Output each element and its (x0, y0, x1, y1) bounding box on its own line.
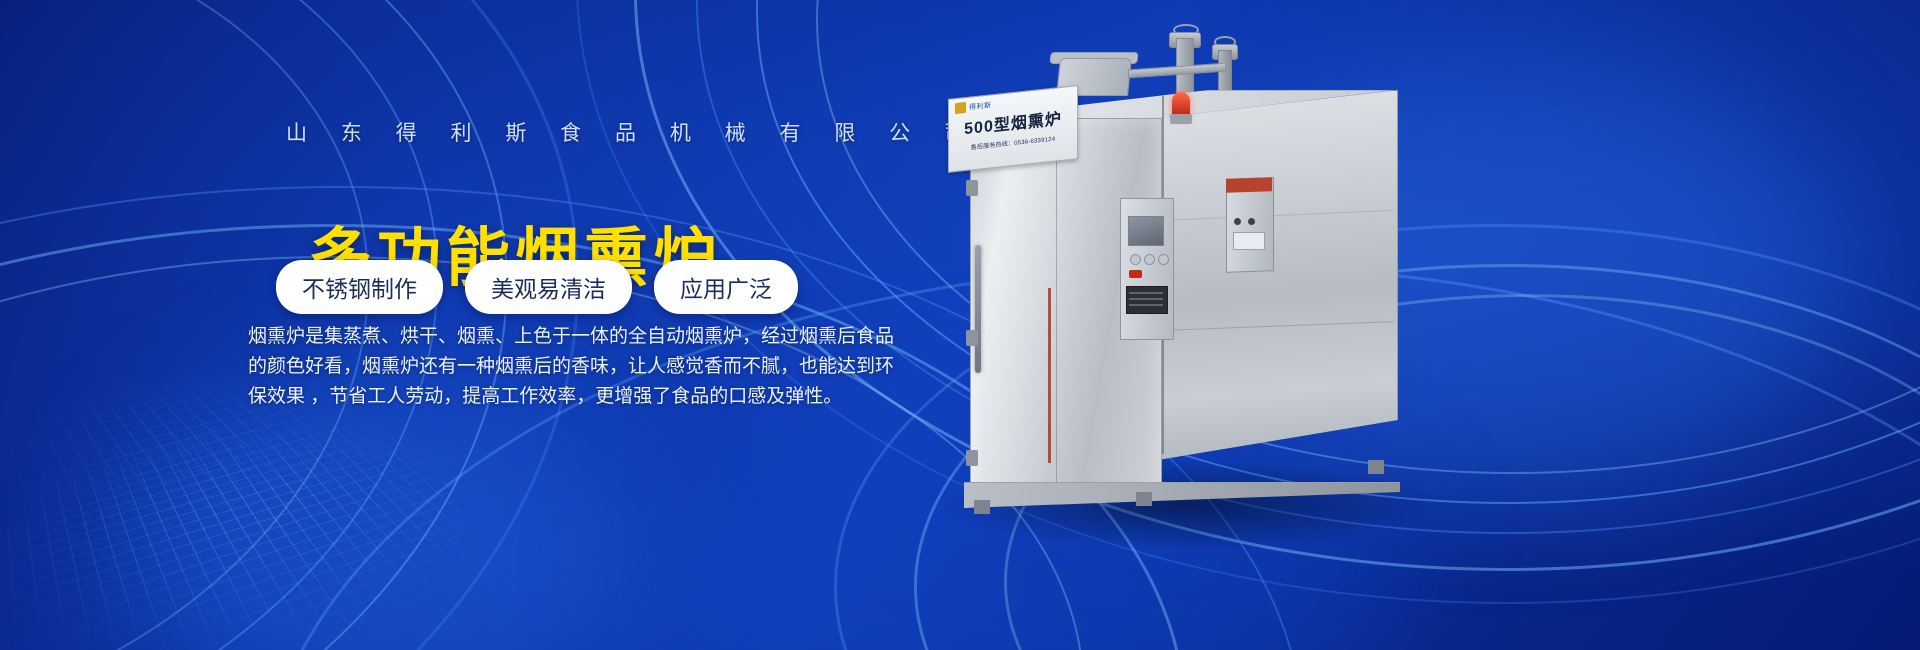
control-emergency-button (1129, 270, 1142, 278)
cabinet-side-panel (1158, 90, 1398, 460)
feature-badge-easy-clean: 美观易清洁 (465, 260, 632, 314)
company-name: 山 东 得 利 斯 食 品 机 械 有 限 公 司 (286, 117, 979, 147)
feature-badge-wide-use: 应用广泛 (654, 260, 798, 314)
vent-slat-1 (1129, 292, 1163, 294)
feature-badge-stainless: 不锈钢制作 (276, 260, 443, 314)
electrical-panel-header (1226, 177, 1272, 193)
control-knob-1 (1130, 254, 1141, 265)
door-hinge-1 (966, 180, 978, 196)
alarm-beacon-base (1170, 114, 1192, 124)
panel-label (1233, 232, 1265, 250)
door-hinge-3 (966, 450, 978, 466)
cabinet-foot-3 (1368, 460, 1384, 474)
description-line-2: 的颜色好看，烟熏炉还有一种烟熏后的香味，让人感觉香而不腻，也能达到环 (248, 352, 814, 382)
door-seam-1 (1056, 126, 1057, 488)
control-knob-2 (1144, 254, 1155, 265)
exhaust-stack-2 (1218, 50, 1232, 96)
control-knob-3 (1158, 254, 1169, 265)
description-line-3: 保效果 ，节省工人劳动，提高工作效率，更增强了食品的口感及弹性。 (248, 382, 814, 412)
feature-badge-list: 不锈钢制作 美观易清洁 应用广泛 (276, 260, 798, 314)
control-vent-grille (1126, 286, 1168, 314)
description-line-1: 烟熏炉是集蒸煮、烘干、烟熏、上色于一体的全自动烟熏炉，经过烟熏后食品 (248, 322, 814, 352)
cabinet-foot-1 (974, 500, 990, 514)
control-display-screen (1128, 216, 1164, 246)
door-hinge-2 (966, 330, 978, 346)
product-description: 烟熏炉是集蒸煮、烘干、烟熏、上色于一体的全自动烟熏炉，经过烟熏后食品 的颜色好看… (248, 322, 814, 412)
door-handle (975, 245, 981, 373)
vent-slat-2 (1129, 298, 1163, 300)
panel-indicator-2 (1248, 218, 1255, 225)
promo-banner: 山 东 得 利 斯 食 品 机 械 有 限 公 司 多功能烟熏炉 不锈钢制作 美… (0, 0, 1920, 650)
brand-logo-icon (955, 102, 966, 114)
label-brand-name: 得利斯 (969, 100, 992, 112)
cabinet-foot-2 (1136, 492, 1152, 506)
banner-text-column: 山 东 得 利 斯 食 品 机 械 有 限 公 司 多功能烟熏炉 不锈钢制作 美… (0, 0, 900, 650)
panel-indicator-1 (1234, 218, 1241, 225)
product-label-plate: 得利斯 500型烟熏炉 售后服务热线：0536-6339124 (948, 85, 1078, 173)
product-image-smoke-oven: 得利斯 500型烟熏炉 售后服务热线：0536-6339124 (930, 30, 1490, 550)
vent-slat-3 (1129, 304, 1163, 306)
red-pipe (1048, 288, 1051, 463)
